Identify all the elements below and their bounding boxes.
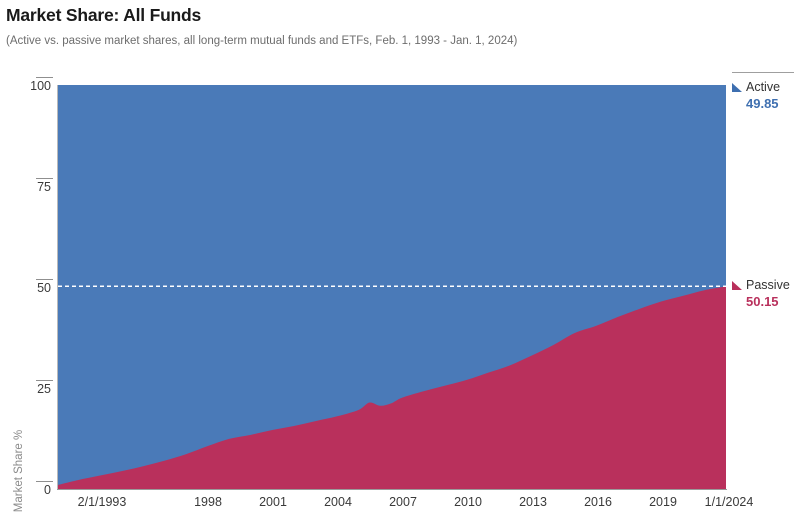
- x-tick-label: 1998: [194, 495, 222, 509]
- y-tick-mark: [36, 279, 53, 280]
- legend-label-active: Active: [746, 80, 780, 94]
- page-title: Market Share: All Funds: [6, 4, 786, 26]
- x-axis-line: [57, 489, 727, 490]
- y-tick-25: 25: [7, 383, 57, 396]
- legend-value-passive: 50.15: [732, 294, 800, 310]
- y-axis: 100 75 50 25 0 Market Share %: [0, 70, 57, 510]
- y-tick-75: 75: [7, 181, 57, 194]
- x-tick-label: 2001: [259, 495, 287, 509]
- chart-legend: Active 49.85 Passive 50.15: [732, 70, 800, 510]
- y-tick-label: 25: [7, 383, 57, 396]
- triangle-marker-icon: [732, 281, 742, 290]
- y-tick-label: 100: [7, 80, 57, 93]
- triangle-marker-icon: [732, 83, 742, 92]
- legend-divider: [732, 72, 794, 73]
- y-tick-label: 75: [7, 181, 57, 194]
- x-tick-label: 2007: [389, 495, 417, 509]
- x-tick-label: 2010: [454, 495, 482, 509]
- y-tick-50: 50: [7, 282, 57, 295]
- x-tick-label: 2013: [519, 495, 547, 509]
- y-tick-mark: [36, 77, 53, 78]
- x-tick-label: 2/1/1993: [78, 495, 127, 509]
- legend-value-active: 49.85: [732, 96, 800, 112]
- x-tick-label: 2019: [649, 495, 677, 509]
- y-tick-mark: [36, 481, 53, 482]
- chart-header: Market Share: All Funds (Active vs. pass…: [6, 4, 786, 49]
- legend-item-passive[interactable]: Passive 50.15: [732, 278, 800, 310]
- legend-label-passive: Passive: [746, 278, 790, 292]
- y-tick-mark: [36, 178, 53, 179]
- legend-item-active[interactable]: Active 49.85: [732, 80, 800, 112]
- x-tick-label: 2016: [584, 495, 612, 509]
- x-tick-label: 2004: [324, 495, 352, 509]
- x-axis: 2/1/1993 1998 2001 2004 2007 2010 2013 2…: [58, 491, 726, 515]
- chart-container: 100 75 50 25 0 Market Share %: [0, 70, 800, 520]
- chart-subtitle: (Active vs. passive market shares, all l…: [6, 33, 786, 49]
- y-tick-label: 50: [7, 282, 57, 295]
- area-chart-svg: [58, 85, 726, 489]
- plot-area: [58, 85, 726, 489]
- y-axis-title: Market Share %: [13, 416, 25, 526]
- y-tick-100: 100: [7, 80, 57, 93]
- y-tick-mark: [36, 380, 53, 381]
